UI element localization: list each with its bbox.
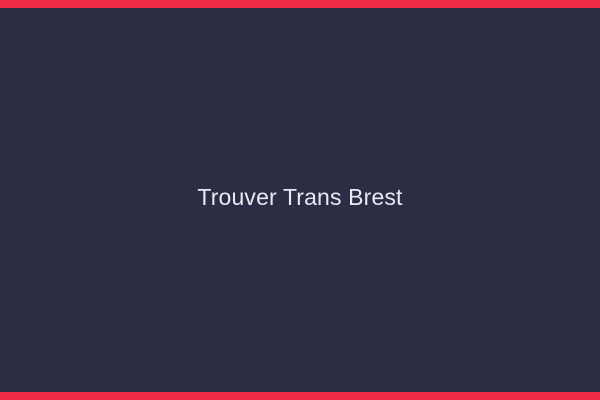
bottom-accent-bar: [0, 392, 600, 400]
placeholder-card: Trouver Trans Brest: [0, 0, 600, 400]
page-title: Trouver Trans Brest: [177, 184, 422, 212]
top-accent-bar: [0, 0, 600, 8]
